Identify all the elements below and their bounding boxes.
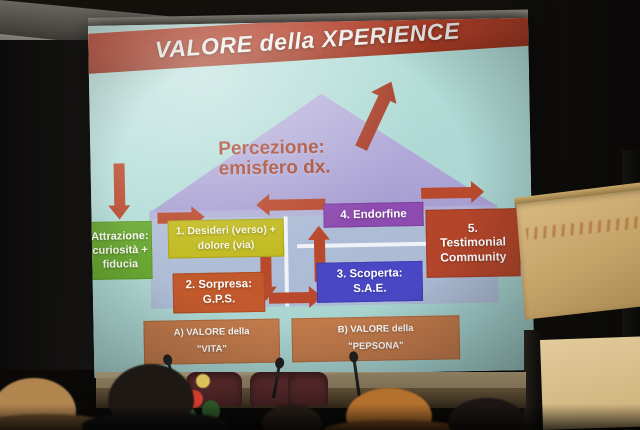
arrow-endorfine-to-testimonial — [421, 187, 473, 199]
box-testimonial-line2: Testimonial — [440, 236, 506, 251]
box-scoperta[interactable]: 3. Scoperta: S.A.E. — [316, 261, 423, 303]
wall-left — [0, 40, 96, 370]
projection-screen: VALORE della XPERIENCE Percezione: emisf… — [88, 18, 534, 378]
box-testimonial-line1: 5. — [468, 222, 478, 236]
box-attrazione[interactable]: Attrazione: curiosità + fiducia — [88, 221, 153, 280]
box-attrazione-line1: Attrazione: — [91, 229, 149, 242]
box-attrazione-line2: curiosità + — [92, 244, 148, 257]
box-sorpresa[interactable]: 2. Sorpresa: G.P.S. — [173, 272, 266, 314]
box-desideri[interactable]: 1. Desideri (verso) + dolore (via) — [168, 218, 285, 258]
chair — [288, 372, 328, 406]
box-valore-vita-line2: "VITA" — [197, 345, 227, 356]
box-endorfine[interactable]: 4. Endorfine — [323, 202, 423, 228]
slide-surface: VALORE della XPERIENCE Percezione: emisf… — [88, 18, 534, 378]
box-sorpresa-line1: 2. Sorpresa: — [185, 278, 252, 292]
box-valore-persona-line1: B) VALORE della — [338, 324, 414, 336]
photo-scene: VALORE della XPERIENCE Percezione: emisf… — [0, 0, 640, 430]
foreground-shadow — [0, 404, 640, 430]
flip-chart-paper — [516, 190, 640, 320]
box-desideri-line1: 1. Desideri (verso) + — [176, 224, 276, 238]
triangle-label-line2: emisfero dx. — [218, 155, 433, 178]
box-valore-persona-line2: "PEPSONA" — [348, 341, 404, 353]
triangle-label: Percezione: emisfero dx. — [218, 136, 434, 179]
arrow-left-under-triangle — [267, 199, 325, 211]
box-testimonial-line3: Community — [440, 250, 506, 265]
box-desideri-line2: dolore (via) — [198, 239, 255, 252]
arrow-sorpresa-to-scoperta — [269, 292, 311, 304]
box-scoperta-line2: S.A.E. — [353, 283, 386, 296]
box-endorfine-label: 4. Endorfine — [340, 208, 407, 222]
box-valore-persona[interactable]: B) VALORE della "PEPSONA" — [291, 315, 460, 362]
flower-petal — [196, 374, 210, 388]
box-scoperta-line1: 3. Scoperta: — [337, 267, 403, 281]
box-testimonial[interactable]: 5. Testimonial Community — [425, 208, 520, 278]
box-valore-vita-line1: A) VALORE della — [174, 327, 250, 339]
arrow-down-into-attrazione — [114, 163, 126, 207]
box-sorpresa-line2: G.P.S. — [203, 293, 236, 306]
box-attrazione-line3: fiducia — [103, 258, 139, 271]
